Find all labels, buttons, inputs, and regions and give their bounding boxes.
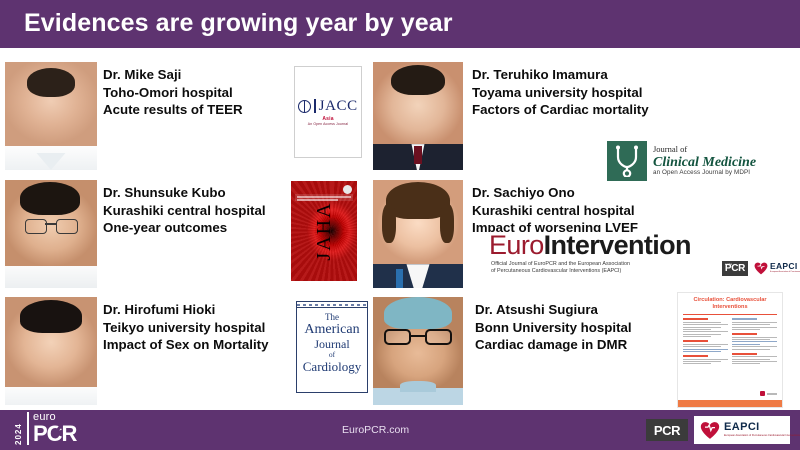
entry-text-saji: Dr. Mike Saji Toho-Omori hospital Acute …	[103, 66, 243, 119]
doctor-affiliation: Toho-Omori hospital	[103, 84, 243, 102]
footer-eapci-sub: European Association of Percutaneous Car…	[724, 434, 800, 437]
heart-icon	[754, 262, 768, 275]
doctor-name: Dr. Hirofumi Hioki	[103, 301, 269, 319]
aha-logo-icon	[343, 185, 352, 194]
portrait-teruhiko-imamura	[373, 62, 463, 170]
jacc-region: Asia	[322, 116, 333, 122]
journal-thumb-clinical-medicine: Journal of Clinical Medicine an Open Acc…	[607, 138, 793, 184]
aha-footer-logo	[760, 391, 777, 396]
ajc-line4: of	[297, 351, 367, 359]
ajc-line5: Cardiology	[297, 360, 367, 373]
badge-eapci-small: EAPCI European Association of Percutaneo…	[751, 259, 798, 278]
article-column-right	[732, 318, 777, 365]
doctor-affiliation: Kurashiki central hospital	[472, 202, 638, 220]
doctor-affiliation: Kurashiki central hospital	[103, 202, 266, 220]
portrait-atsushi-sugiura	[373, 297, 463, 405]
doctor-topic: Cardiac damage in DMR	[475, 336, 632, 354]
slide-canvas: Evidences are growing year by year Dr. M…	[0, 0, 800, 450]
doctor-topic: Factors of Cardiac mortality	[472, 101, 649, 119]
jaha-banner	[295, 194, 353, 201]
ajc-line3: Journal	[297, 338, 367, 350]
ei-intervention: Intervention	[544, 232, 691, 260]
article-column-left	[683, 318, 728, 365]
page-title: Evidences are growing year by year	[24, 9, 453, 38]
doctor-affiliation: Teikyo university hospital	[103, 319, 269, 337]
europcr-logo: 2024 euro PCR	[14, 416, 76, 445]
ajc-line1: The	[297, 313, 367, 322]
portrait-hirofumi-hioki	[5, 297, 97, 405]
circulation-title: Circulation: Cardiovascular Intervention…	[678, 293, 782, 314]
badge-eapci-sub: European Association of Percutaneous Car…	[770, 271, 800, 273]
journal-thumb-jaha: JAHA	[291, 181, 357, 281]
doctor-name: Dr. Mike Saji	[103, 66, 243, 84]
logo-year: 2024	[14, 419, 24, 445]
entry-text-kubo: Dr. Shunsuke Kubo Kurashiki central hosp…	[103, 184, 266, 237]
doctor-name: Dr. Atsushi Sugiura	[475, 301, 632, 319]
jcm-line1: Journal of	[653, 145, 756, 154]
portrait-sachiyo-ono	[373, 180, 463, 288]
doctor-topic: Impact of Sex on Mortality	[103, 336, 269, 354]
jacc-tagline: An Open Access Journal	[308, 122, 348, 126]
jaha-wordmark: JAHA	[313, 201, 336, 260]
jcm-line2: Clinical Medicine	[653, 155, 756, 170]
ei-subtitle-2: of Percutaneous Cardiovascular Intervent…	[491, 268, 723, 275]
globe-icon	[298, 100, 311, 113]
ei-subtitle-1: Official Journal of EuroPCR and the Euro…	[491, 261, 723, 268]
badge-pcr-top: euro	[725, 262, 732, 266]
footer-url[interactable]: EuroPCR.com	[342, 424, 409, 436]
doctor-name: Dr. Sachiyo Ono	[472, 184, 638, 202]
entry-text-sugiura: Dr. Atsushi Sugiura Bonn University hosp…	[475, 301, 632, 354]
circulation-title-line1: Circulation: Cardiovascular	[682, 297, 778, 304]
journal-thumb-eurointervention: EuroIntervention Official Journal of Eur…	[463, 232, 723, 284]
portrait-shunsuke-kubo	[5, 180, 97, 288]
entry-text-hioki: Dr. Hirofumi Hioki Teikyo university hos…	[103, 301, 269, 354]
eurointervention-wordmark: EuroIntervention	[463, 232, 723, 259]
doctor-affiliation: Toyama university hospital	[472, 84, 649, 102]
entry-text-imamura: Dr. Teruhiko Imamura Toyama university h…	[472, 66, 649, 119]
entry-text-ono: Dr. Sachiyo Ono Kurashiki central hospit…	[472, 184, 638, 237]
ajc-line2: American	[297, 323, 367, 337]
logo-pcr: PCR	[33, 423, 76, 445]
journal-thumb-american-journal-cardiology: The American Journal of Cardiology	[296, 301, 368, 393]
doctor-topic: One-year outcomes	[103, 219, 266, 237]
doctor-topic: Acute results of TEER	[103, 101, 243, 119]
heart-icon	[700, 421, 720, 440]
badge-pcr-small: euro PCR	[722, 261, 748, 276]
doctor-affiliation: Bonn University hospital	[475, 319, 632, 337]
circulation-title-line2: Interventions	[682, 304, 778, 311]
divider	[314, 99, 315, 113]
jcm-line3: an Open Access Journal by MDPI	[653, 170, 756, 177]
jacc-wordmark: JACC	[319, 98, 358, 115]
title-rule	[683, 314, 777, 315]
article-columns	[678, 318, 782, 365]
stethoscope-icon	[607, 141, 647, 181]
journal-thumb-jacc-asia: JACC Asia An Open Access Journal	[294, 66, 362, 158]
footer-bar	[678, 400, 782, 407]
slide-title-bar: Evidences are growing year by year	[0, 0, 800, 48]
footer-eapci-label: EAPCI	[724, 422, 800, 434]
portrait-mike-saji	[5, 62, 97, 170]
doctor-name: Dr. Teruhiko Imamura	[472, 66, 649, 84]
footer-pcr-logo: PCR	[646, 419, 688, 441]
journal-thumb-circulation-cv-interventions: Circulation: Cardiovascular Intervention…	[677, 292, 783, 408]
slide-footer: 2024 euro PCR EuroPCR.com PCR EAPCI Euro…	[0, 410, 800, 450]
ei-euro: Euro	[489, 232, 544, 260]
footer-eapci-logo: EAPCI European Association of Percutaneo…	[694, 416, 790, 444]
doctor-name: Dr. Shunsuke Kubo	[103, 184, 266, 202]
